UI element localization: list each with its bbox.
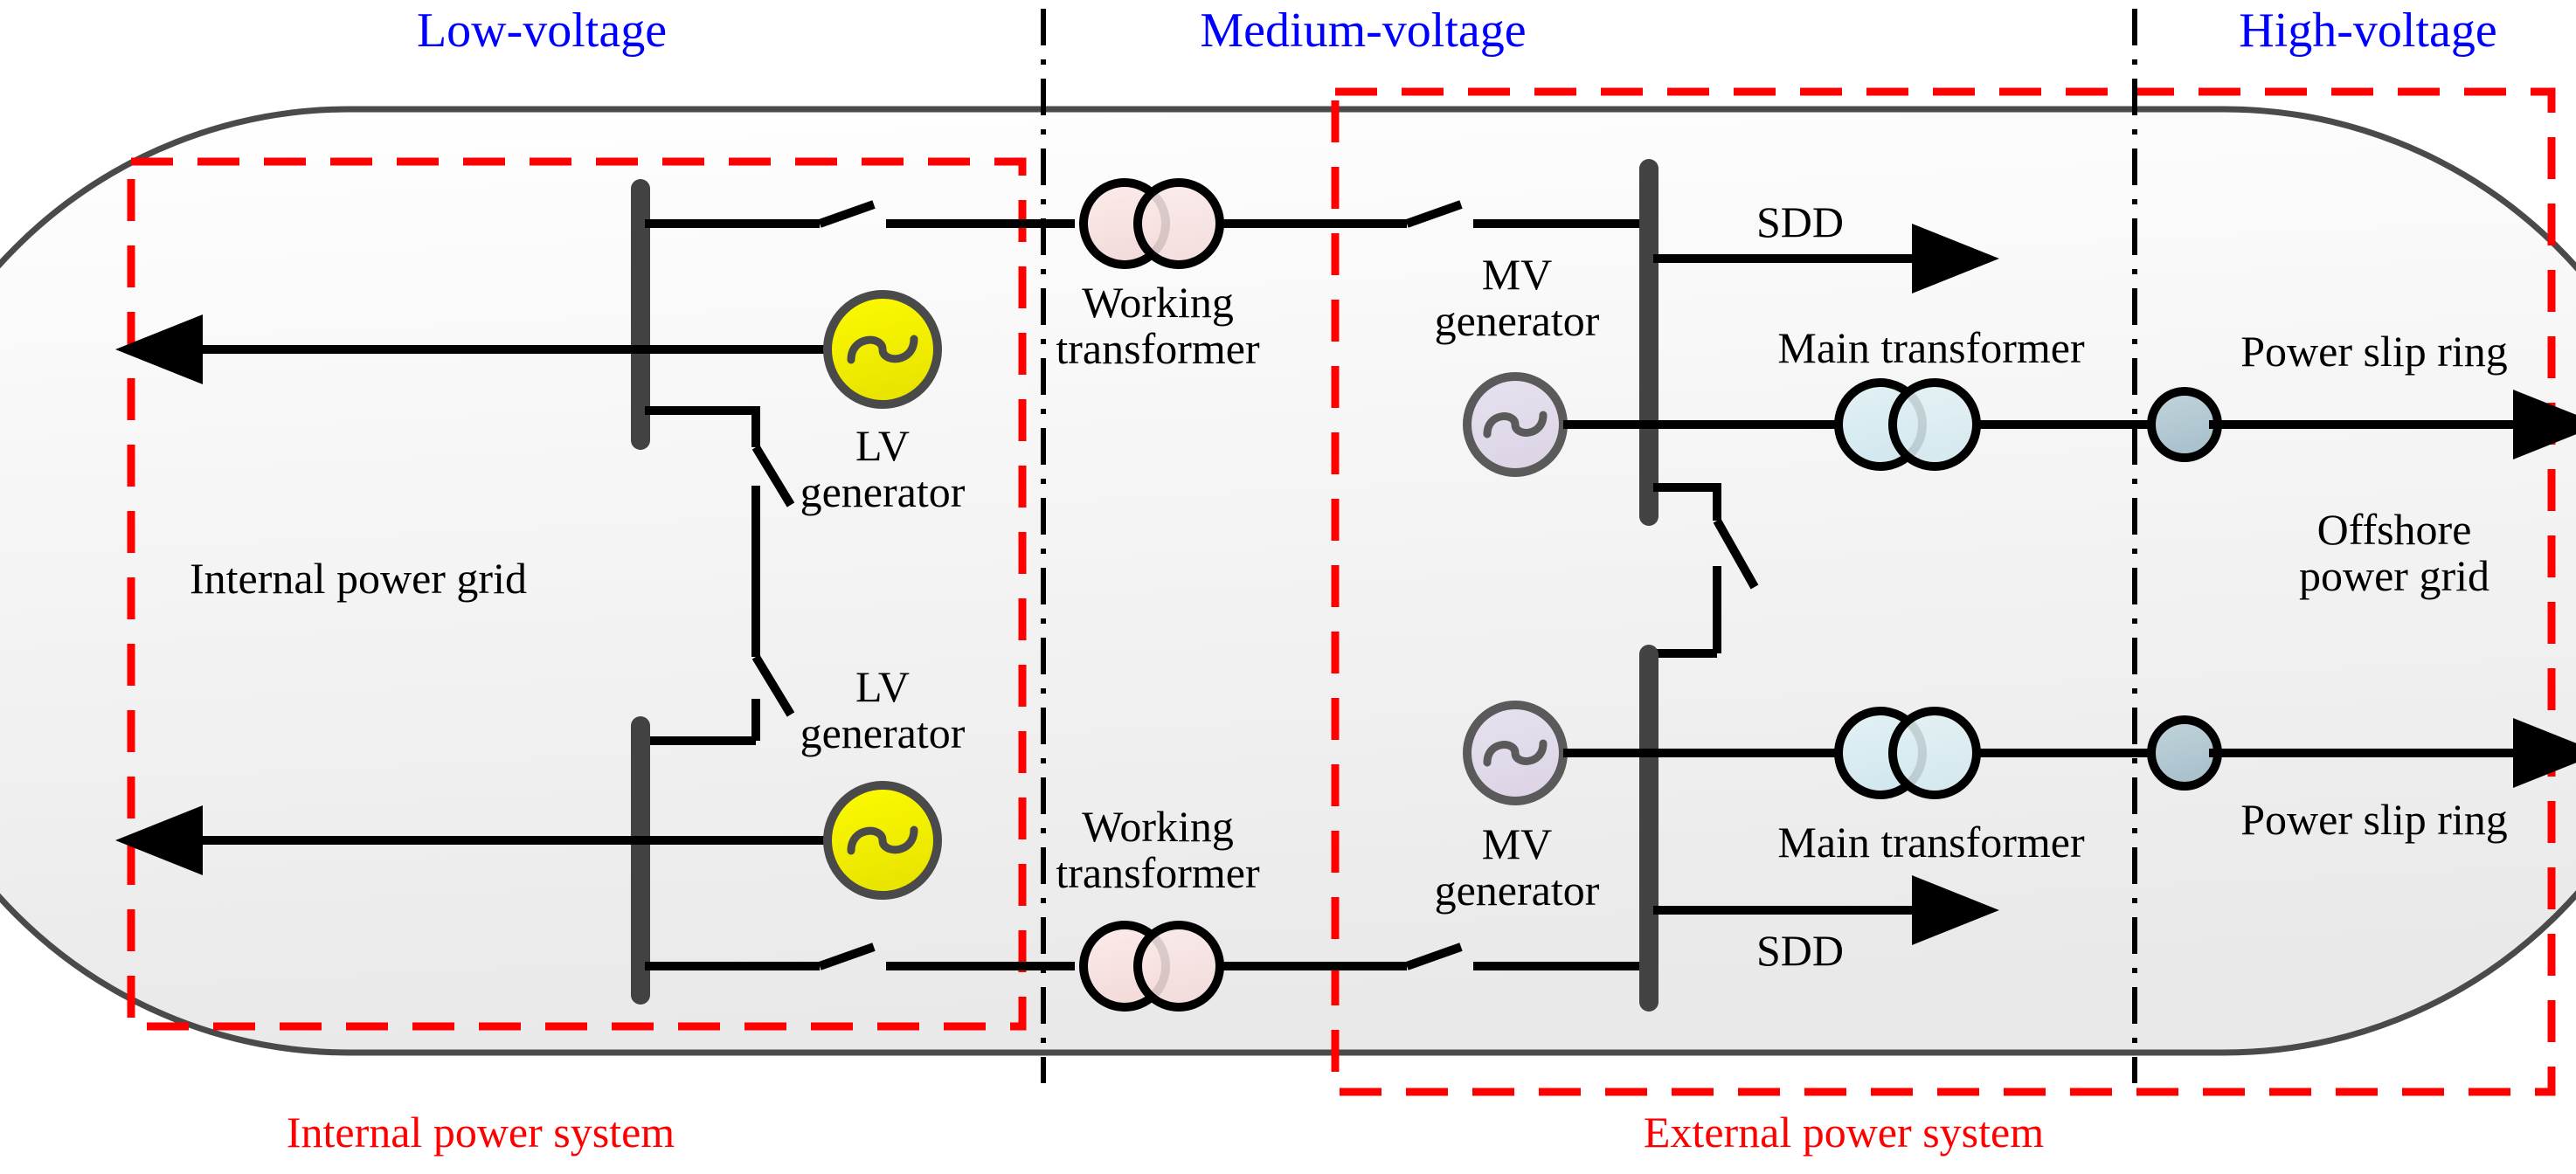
diagram-svg — [0, 0, 2576, 1174]
diagram-canvas: Low-voltage Medium-voltage High-voltage … — [0, 0, 2576, 1174]
mv-busbar-upper — [1639, 159, 1658, 526]
platform-envelope — [0, 109, 2576, 1053]
lv-busbar-lower — [631, 716, 650, 1005]
mv-busbar-lower — [1639, 645, 1658, 1012]
